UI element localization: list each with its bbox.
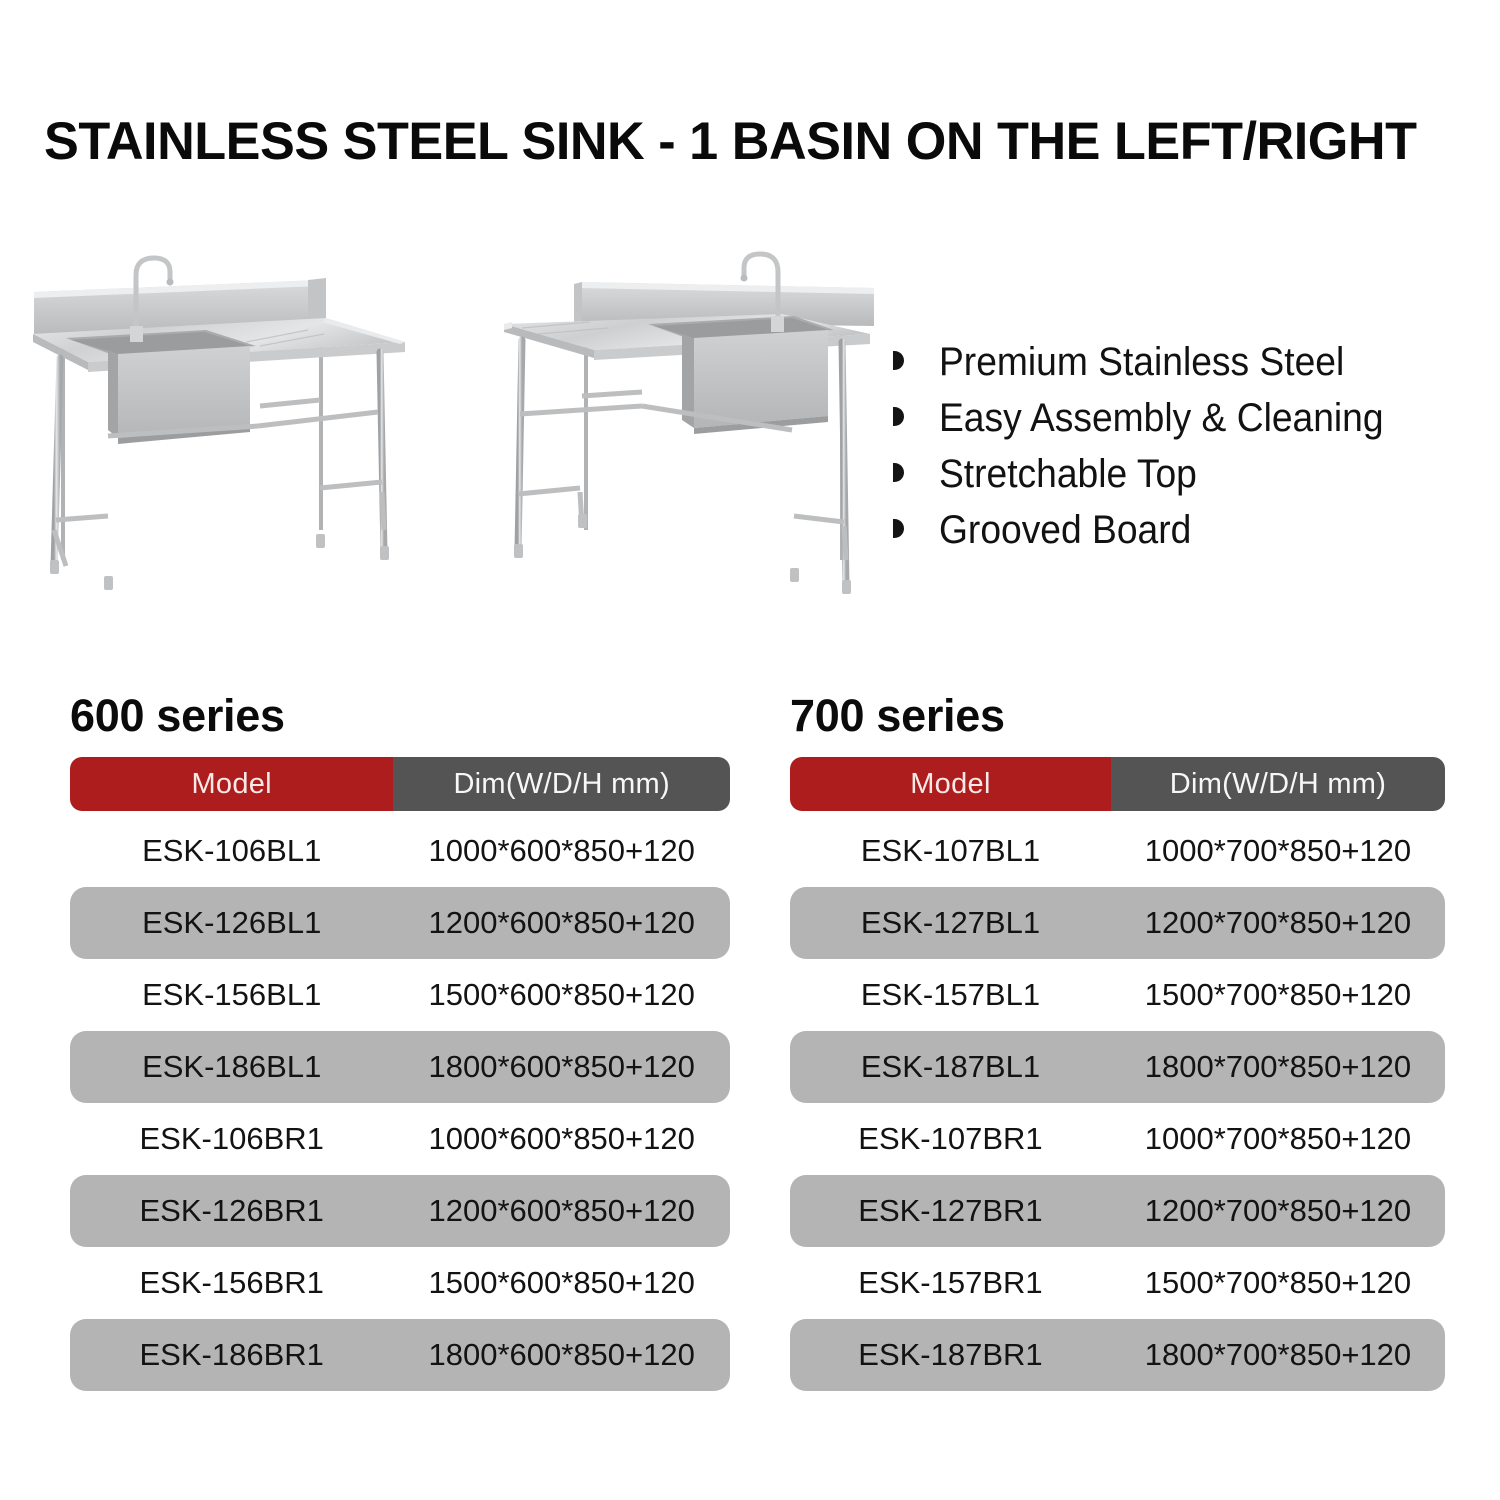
- half-disc-bullet-icon: [893, 519, 939, 542]
- cell-dimensions: 1200*700*850+120: [1111, 1193, 1445, 1229]
- table-row: ESK-127BL1 1200*700*850+120: [790, 887, 1445, 959]
- spec-table-700-series: 700 series Model Dim(W/D/H mm) ESK-107BL…: [790, 690, 1445, 1391]
- table-row: ESK-127BR1 1200*700*850+120: [790, 1175, 1445, 1247]
- half-disc-bullet-icon: [893, 407, 939, 430]
- feature-label: Easy Assembly & Cleaning: [939, 394, 1384, 442]
- table-header-700: Model Dim(W/D/H mm): [790, 757, 1445, 811]
- table-row: ESK-157BL1 1500*700*850+120: [790, 959, 1445, 1031]
- table-row: ESK-106BR1 1000*600*850+120: [70, 1103, 730, 1175]
- cell-model: ESK-187BL1: [790, 1049, 1111, 1085]
- table-row: ESK-106BL1 1000*600*850+120: [70, 815, 730, 887]
- cell-dimensions: 1000*600*850+120: [393, 1121, 730, 1157]
- half-disc-bullet-icon: [893, 463, 939, 486]
- cell-model: ESK-187BR1: [790, 1337, 1111, 1373]
- table-row: ESK-126BR1 1200*600*850+120: [70, 1175, 730, 1247]
- column-header-dimensions: Dim(W/D/H mm): [1111, 757, 1445, 811]
- cell-model: ESK-106BR1: [70, 1121, 393, 1157]
- cell-model: ESK-126BL1: [70, 905, 393, 941]
- page-title: STAINLESS STEEL SINK - 1 BASIN ON THE LE…: [44, 112, 1443, 172]
- adjustable-feet: [50, 534, 389, 590]
- feature-item: Easy Assembly & Cleaning: [893, 394, 1483, 450]
- product-infographic: STAINLESS STEEL SINK - 1 BASIN ON THE LE…: [0, 0, 1500, 1500]
- cell-model: ESK-186BR1: [70, 1337, 393, 1373]
- table-row: ESK-156BL1 1500*600*850+120: [70, 959, 730, 1031]
- adjustable-feet: [514, 514, 851, 594]
- column-header-model: Model: [790, 757, 1111, 811]
- half-disc-bullet-icon: [893, 351, 939, 374]
- table-header-600: Model Dim(W/D/H mm): [70, 757, 730, 811]
- faucet-spout: [167, 279, 174, 286]
- table-row: ESK-157BR1 1500*700*850+120: [790, 1247, 1445, 1319]
- cell-model: ESK-156BR1: [70, 1265, 393, 1301]
- cell-dimensions: 1800*700*850+120: [1111, 1337, 1445, 1373]
- table-body-700: ESK-107BL1 1000*700*850+120 ESK-127BL1 1…: [790, 815, 1445, 1391]
- cell-dimensions: 1200*600*850+120: [393, 905, 730, 941]
- cell-model: ESK-157BR1: [790, 1265, 1111, 1301]
- column-header-dimensions: Dim(W/D/H mm): [393, 757, 730, 811]
- table-row: ESK-186BR1 1800*600*850+120: [70, 1319, 730, 1391]
- cell-model: ESK-127BL1: [790, 905, 1111, 941]
- product-image-basin-right: [482, 230, 892, 630]
- cell-dimensions: 1500*700*850+120: [1111, 1265, 1445, 1301]
- product-image-basin-left: [8, 230, 438, 630]
- feature-item: Stretchable Top: [893, 450, 1483, 506]
- cell-dimensions: 1000*700*850+120: [1111, 1121, 1445, 1157]
- series-title-700: 700 series: [790, 690, 1445, 742]
- cell-dimensions: 1500*600*850+120: [393, 1265, 730, 1301]
- cell-dimensions: 1800*700*850+120: [1111, 1049, 1445, 1085]
- faucet-base: [130, 326, 143, 342]
- spec-table-600-series: 600 series Model Dim(W/D/H mm) ESK-106BL…: [70, 690, 730, 1391]
- table-row: ESK-107BR1 1000*700*850+120: [790, 1103, 1445, 1175]
- feature-label: Stretchable Top: [939, 450, 1197, 498]
- feature-list: Premium Stainless Steel Easy Assembly & …: [893, 338, 1483, 562]
- feature-label: Grooved Board: [939, 506, 1191, 554]
- cell-model: ESK-107BL1: [790, 833, 1111, 869]
- cell-dimensions: 1500*600*850+120: [393, 977, 730, 1013]
- hero-section: Premium Stainless Steel Easy Assembly & …: [0, 230, 1500, 650]
- table-row: ESK-107BL1 1000*700*850+120: [790, 815, 1445, 887]
- table-row: ESK-187BR1 1800*700*850+120: [790, 1319, 1445, 1391]
- feature-item: Premium Stainless Steel: [893, 338, 1483, 394]
- table-row: ESK-126BL1 1200*600*850+120: [70, 887, 730, 959]
- table-body-600: ESK-106BL1 1000*600*850+120 ESK-126BL1 1…: [70, 815, 730, 1391]
- feature-label: Premium Stainless Steel: [939, 338, 1344, 386]
- cell-dimensions: 1200*600*850+120: [393, 1193, 730, 1229]
- faucet-base: [771, 316, 784, 332]
- column-header-model: Model: [70, 757, 393, 811]
- cell-model: ESK-126BR1: [70, 1193, 393, 1229]
- cell-model: ESK-157BL1: [790, 977, 1111, 1013]
- cell-model: ESK-156BL1: [70, 977, 393, 1013]
- cell-dimensions: 1800*600*850+120: [393, 1337, 730, 1373]
- faucet-spout: [741, 275, 748, 282]
- cell-model: ESK-106BL1: [70, 833, 393, 869]
- table-row: ESK-156BR1 1500*600*850+120: [70, 1247, 730, 1319]
- table-row: ESK-186BL1 1800*600*850+120: [70, 1031, 730, 1103]
- cell-dimensions: 1500*700*850+120: [1111, 977, 1445, 1013]
- cell-dimensions: 1000*700*850+120: [1111, 833, 1445, 869]
- table-row: ESK-187BL1 1800*700*850+120: [790, 1031, 1445, 1103]
- cell-dimensions: 1200*700*850+120: [1111, 905, 1445, 941]
- feature-item: Grooved Board: [893, 506, 1483, 562]
- series-title-600: 600 series: [70, 690, 730, 742]
- basin-right: [648, 316, 834, 434]
- cell-model: ESK-107BR1: [790, 1121, 1111, 1157]
- cell-model: ESK-127BR1: [790, 1193, 1111, 1229]
- cell-dimensions: 1000*600*850+120: [393, 833, 730, 869]
- cell-dimensions: 1800*600*850+120: [393, 1049, 730, 1085]
- cell-model: ESK-186BL1: [70, 1049, 393, 1085]
